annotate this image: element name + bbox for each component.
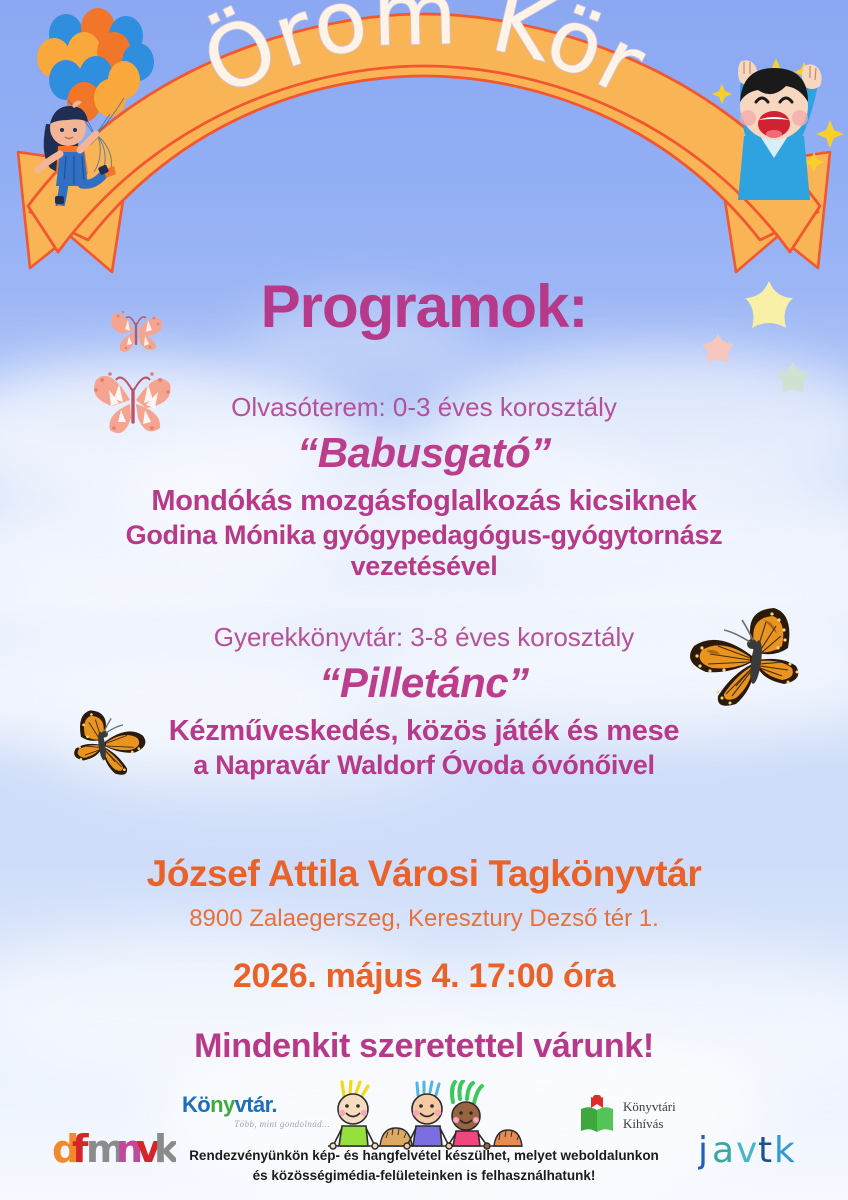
disclaimer-line-1: Rendezvényünkön kép- és hangfelvétel kés… [189, 1148, 659, 1163]
program-presenter-line1: Godina Mónika gyógypedagógus-gyógytornás… [24, 520, 824, 551]
child-figure [449, 1081, 490, 1149]
program-title: “Babusgató” [24, 429, 824, 477]
dfmvk-wordmark: d f m n v k [52, 1126, 176, 1174]
konyvtar-tagline: Több, mint gondolnád... [182, 1119, 330, 1129]
kihivas-line-2: Kihívás [623, 1115, 676, 1132]
program-presenter-line1: a Napravár Waldorf Óvoda óvónőivel [24, 750, 824, 781]
program-presenter-line2: vezetésével [24, 551, 824, 582]
javtk-letter-j: j [698, 1130, 706, 1171]
hedgehog-figure [380, 1128, 412, 1146]
animal-figure [494, 1130, 522, 1146]
javtk-wordmark: j a v t k [698, 1126, 810, 1174]
event-datetime: 2026. május 4. 17:00 óra [24, 957, 824, 996]
venue-address: 8900 Zalaegerszeg, Keresztury Dezső tér … [24, 905, 824, 933]
venue-name: József Attila Városi Tagkönyvtár [24, 853, 824, 895]
child-figure [404, 1082, 452, 1149]
welcome-message: Mindenkit szeretettel várunk! [24, 1027, 824, 1066]
javtk-letter-a: a [712, 1130, 732, 1171]
javtk-letter-t: t [758, 1130, 772, 1171]
konyvtar-part-1: Kö [182, 1092, 210, 1117]
program-age-line: Gyerekkönyvtár: 3-8 éves korosztály [24, 622, 824, 653]
venue-block: József Attila Városi Tagkönyvtár 8900 Za… [24, 853, 824, 996]
program-block-babusgato: Olvasóterem: 0-3 éves korosztály “Babusg… [24, 392, 824, 582]
poster-canvas: Öröm Kör [0, 0, 848, 1200]
program-description: Kézműveskedés, közös játék és mese [24, 715, 824, 748]
logo-javtk[interactable]: j a v t k javtk [698, 1126, 810, 1179]
kihivas-wordmark: Könyvtári Kihívás [623, 1098, 676, 1132]
konyvtar-part-3: vtár. [235, 1092, 277, 1117]
logo-konyvtari-kihivas[interactable]: Könyvtári Kihívás [578, 1095, 676, 1135]
konyvtar-wordmark: Könyvtár. [182, 1094, 330, 1116]
logo-dfmvk[interactable]: d f m n v k dfmvk [52, 1126, 176, 1179]
dfmvk-letter-k: k [154, 1127, 176, 1171]
logo-konyvtar[interactable]: Könyvtár. Több, mint gondolnád... [182, 1094, 330, 1129]
open-book-icon [578, 1095, 616, 1135]
page-title: Programok: [0, 272, 848, 341]
konyvtar-part-2: ny [210, 1092, 234, 1117]
disclaimer-line-2: és közösségimédia-felületeinken is felha… [253, 1168, 596, 1183]
javtk-letter-v: v [736, 1130, 757, 1171]
program-title: “Pilletánc” [24, 659, 824, 707]
kihivas-line-1: Könyvtári [623, 1098, 676, 1115]
program-block-pilletanc: Gyerekkönyvtár: 3-8 éves korosztály “Pil… [24, 622, 824, 781]
poster-content: Programok: Olvasóterem: 0-3 éves koroszt… [0, 0, 848, 1200]
program-description: Mondókás mozgásfoglalkozás kicsiknek [24, 485, 824, 518]
child-figure [330, 1081, 378, 1149]
program-age-line: Olvasóterem: 0-3 éves korosztály [24, 392, 824, 423]
javtk-letter-k: k [774, 1130, 795, 1171]
footer-disclaimer: Rendezvényünkön kép- és hangfelvétel kés… [174, 1146, 674, 1185]
